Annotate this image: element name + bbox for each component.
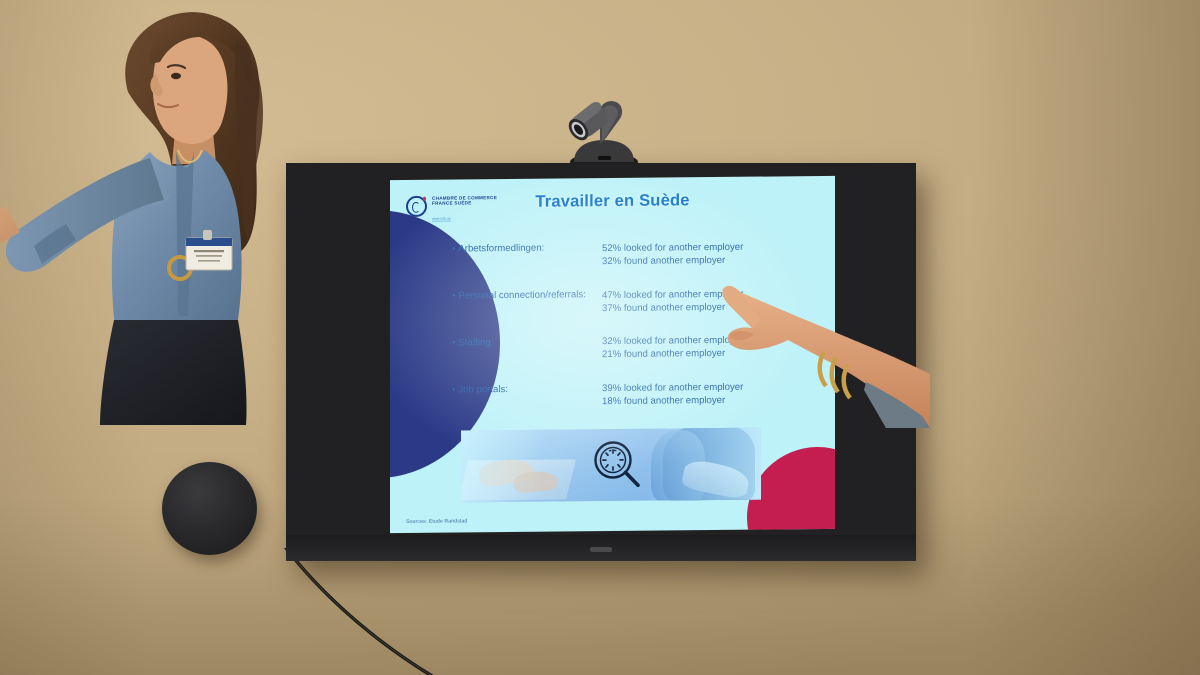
bullet-row: •Arbetsformedlingen: 52% looked for anot… — [452, 240, 827, 270]
tv-brand-logo — [590, 547, 612, 552]
tv-bottom-bezel — [286, 535, 916, 561]
bullet-dot-icon: • — [452, 244, 455, 255]
bullet-term: •Personal connection/referrals: — [452, 289, 602, 317]
bullet-term-label: Arbetsformedlingen: — [458, 243, 544, 255]
bullet-dot-icon: • — [452, 337, 455, 348]
bullet-term: •Staffing: — [452, 336, 602, 364]
screenshot-root: CHAMBRE DE COMMERCE FRANCE SUÈDE www.ccf… — [0, 0, 1200, 675]
bullet-term-label: Staffing: — [458, 337, 493, 348]
presenter-skirt — [100, 320, 247, 425]
slide-sources: Sources: Etude Randstad — [406, 518, 467, 525]
logo-url: www.ccfs.se — [432, 216, 451, 222]
bullet-term: •Arbetsformedlingen: — [452, 242, 602, 270]
slide-photo — [461, 428, 761, 503]
wall-speaker — [162, 462, 257, 555]
bullet-term-label: Job portals: — [458, 384, 508, 395]
ptz-camera-icon — [556, 82, 652, 174]
bullet-term-label: Personal connection/referrals: — [458, 289, 585, 301]
bullet-dot-icon: • — [452, 384, 455, 395]
power-cable — [282, 548, 472, 675]
bullet-values: 52% looked for another employer 32% foun… — [602, 241, 743, 269]
bullet-term: •Job portals: — [452, 383, 602, 411]
bullet-value-line: 52% looked for another employer — [602, 241, 743, 256]
bullet-value-line: 32% found another employer — [602, 254, 743, 269]
slide-title: Travailler en Suède — [390, 190, 835, 213]
magnifying-glass-icon — [589, 437, 645, 494]
presenter-eye — [171, 73, 181, 79]
bullet-dot-icon: • — [452, 290, 455, 301]
presenter — [0, 0, 360, 425]
presenter-pointing-hand — [700, 278, 930, 428]
